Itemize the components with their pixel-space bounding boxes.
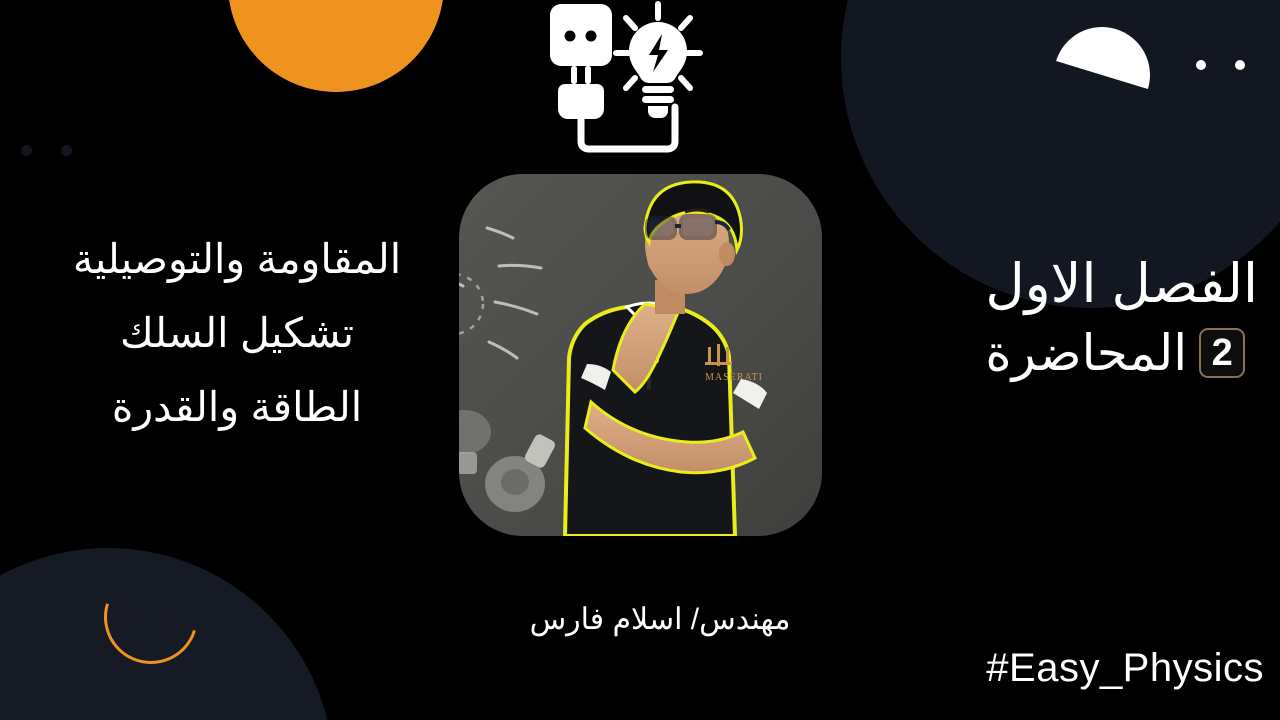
lecture-number-badge: 2	[1199, 328, 1245, 378]
lecture-title-row: 2 المحاضرة	[985, 320, 1258, 386]
channel-hashtag: #Easy_Physics	[986, 645, 1264, 691]
decorative-dot-middle-left-2	[61, 145, 72, 156]
thumbnail-canvas: MASERATI	[0, 0, 1280, 720]
orange-circle-top-left	[228, 0, 444, 92]
lecture-label: المحاضرة	[985, 320, 1187, 386]
decorative-dot-top-right-1	[1196, 60, 1206, 70]
decorative-dot-middle-left-1	[21, 145, 32, 156]
chapter-title: الفصل الاول	[985, 248, 1258, 320]
power-plug-icon	[558, 84, 604, 119]
decorative-dot-top-right-2	[1235, 60, 1245, 70]
socket-plug-bulb-icon	[538, 0, 718, 166]
topic-line-1: المقاومة والتوصيلية	[6, 222, 468, 296]
topic-line-3: الطاقة والقدرة	[6, 370, 468, 444]
svg-text:MASERATI: MASERATI	[705, 372, 763, 383]
power-socket-icon	[550, 4, 612, 66]
topics-list: المقاومة والتوصيلية تشكيل السلك الطاقة و…	[6, 222, 468, 444]
page-title: الفصل الاول 2 المحاضرة	[985, 248, 1258, 386]
instructor-photo: MASERATI	[459, 174, 822, 536]
presenter-name: مهندس/ اسلام فارس	[440, 598, 880, 642]
topic-line-2: تشكيل السلك	[6, 296, 468, 370]
